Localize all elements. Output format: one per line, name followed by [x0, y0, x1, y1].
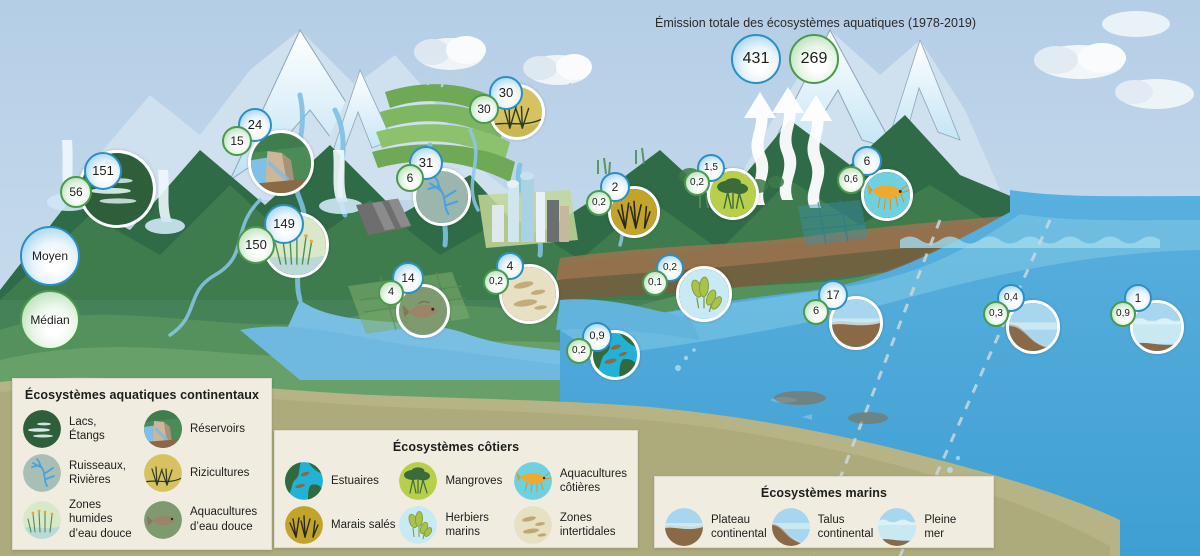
legend-label-line1: Zones humides: [69, 499, 112, 525]
bubble-estuaries-median: 0,2: [566, 338, 592, 364]
legend-item-slope[interactable]: Talus continental: [772, 508, 877, 546]
legend-item-intertidal[interactable]: Zones intertidales: [514, 506, 627, 544]
legend-continental-panel: Écosystèmes aquatiques continentaux Lacs…: [12, 378, 272, 550]
bubble-opensea-median: 0,9: [1110, 301, 1136, 327]
infographic-canvas: Émission totale des écosystèmes aquatiqu…: [0, 0, 1200, 556]
lake-icon: [23, 410, 61, 448]
legend-coastal-title: Écosystèmes côtiers: [275, 431, 637, 462]
open-sea-icon: [878, 508, 916, 546]
intertidal-icon: [514, 506, 552, 544]
mangrove-icon: [399, 462, 437, 500]
total-mean-value: 431: [743, 51, 770, 68]
total-median-value: 269: [801, 51, 828, 68]
legend-item-reservoirs[interactable]: Réservoirs: [144, 410, 261, 448]
legend-label-line2: d’eau douce: [190, 521, 253, 533]
total-median-bubble: 269: [789, 34, 839, 84]
legend-label-line2: mer: [924, 528, 944, 540]
legend-item-open-sea[interactable]: Pleine mer: [878, 508, 983, 546]
legend-continental-title: Écosystèmes aquatiques continentaux: [13, 379, 271, 410]
seagrass-icon: [399, 506, 437, 544]
shrimp-icon: [514, 462, 552, 500]
legend-label-line1: Plateau: [711, 514, 750, 526]
legend-median-bubble: Médian: [20, 290, 80, 350]
legend-label-line2: Étangs: [69, 430, 105, 442]
legend-label-line1: Marais salés: [331, 519, 396, 531]
slope-icon: [772, 508, 810, 546]
legend-item-rice[interactable]: Rizicultures: [144, 454, 261, 492]
bubble-slope-median: 0,3: [983, 301, 1009, 327]
legend-label-line2: d’eau douce: [69, 528, 132, 540]
legend-label-line2: intertidales: [560, 526, 616, 538]
legend-label-line1: Rizicultures: [190, 467, 249, 479]
saltmarsh-icon: [285, 506, 323, 544]
legend-marine-panel: Écosystèmes marins Plateau continental: [654, 476, 994, 548]
legend-label-line1: Aquacultures: [560, 468, 627, 480]
bubble-rice-median: 30: [469, 94, 499, 124]
bubble-intertidal-median: 0,2: [483, 269, 509, 295]
river-icon: [23, 454, 61, 492]
legend-label-line1: Ruisseaux,: [69, 460, 126, 472]
legend-label-line2: marins: [445, 526, 480, 538]
legend-marine-title: Écosystèmes marins: [655, 477, 993, 508]
legend-item-estuaries[interactable]: Estuaires: [285, 462, 397, 500]
legend-label-line1: Zones: [560, 512, 592, 524]
legend-label-line2: continental: [711, 528, 767, 540]
legend-item-mangroves[interactable]: Mangroves: [399, 462, 511, 500]
legend-item-shelf[interactable]: Plateau continental: [665, 508, 770, 546]
legend-label-line1: Pleine: [924, 514, 956, 526]
legend-item-fw-aquaculture[interactable]: Aquacultures d’eau douce: [144, 498, 261, 541]
rice-icon: [144, 454, 182, 492]
aqua-pond-grid: [798, 200, 868, 246]
legend-label-line2: continental: [818, 528, 874, 540]
legend-label-line1: Estuaires: [331, 475, 379, 487]
legend-mean-bubble: Moyen: [20, 226, 80, 286]
total-mean-bubble: 431: [731, 34, 781, 84]
legend-label-line2: côtières: [560, 482, 600, 494]
reservoir-dam-icon: [144, 410, 182, 448]
legend-median-label: Médian: [30, 314, 69, 327]
fish-icon: [144, 501, 182, 539]
legend-item-wetlands[interactable]: Zones humides d’eau douce: [23, 498, 140, 541]
bubble-fwaqua-median: 4: [378, 280, 404, 306]
legend-label-line1: Herbiers: [445, 512, 488, 524]
legend-item-lakes[interactable]: Lacs, Étangs: [23, 410, 140, 448]
legend-label-line1: Lacs,: [69, 416, 97, 428]
bubble-mangroves-median: 0,2: [684, 170, 710, 196]
bubble-saltmarsh-median: 0,2: [586, 190, 612, 216]
bubble-coastalaqua-median: 0,6: [837, 166, 865, 194]
legend-coastal-panel: Écosystèmes côtiers Estuaires: [274, 430, 638, 548]
legend-label-line2: Rivières: [69, 474, 111, 486]
page-title: Émission totale des écosystèmes aquatiqu…: [655, 16, 976, 30]
legend-label-line1: Réservoirs: [190, 423, 245, 435]
wetland-icon: [23, 501, 61, 539]
legend-item-saltmarsh[interactable]: Marais salés: [285, 506, 397, 544]
legend-label-line1: Aquacultures: [190, 506, 257, 518]
legend-label-line1: Talus: [818, 514, 845, 526]
legend-mean-label: Moyen: [32, 250, 68, 263]
bubble-seagrass-median: 0,1: [642, 270, 668, 296]
legend-item-coastal-aquaculture[interactable]: Aquacultures côtières: [514, 462, 627, 500]
legend-label-line1: Mangroves: [445, 475, 502, 487]
bubble-lakes-median: 56: [60, 176, 92, 208]
legend-item-seagrass[interactable]: Herbiers marins: [399, 506, 511, 544]
legend-item-rivers[interactable]: Ruisseaux, Rivières: [23, 454, 140, 492]
disc-coastal-aquaculture: [861, 169, 913, 221]
estuary-icon: [285, 462, 323, 500]
shelf-icon: [665, 508, 703, 546]
bubble-shelf-median: 6: [803, 299, 829, 325]
bubble-wetlands-median: 150: [237, 226, 275, 264]
disc-seagrass: [676, 266, 732, 322]
